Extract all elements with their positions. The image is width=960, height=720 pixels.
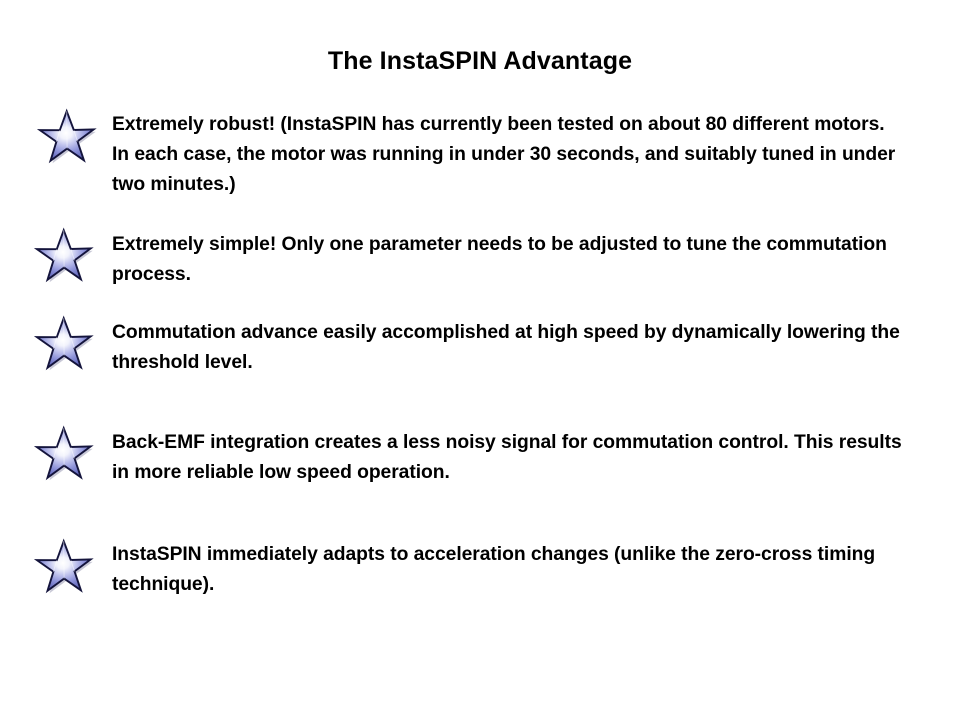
list-item-label: Back-EMF integration creates a less nois… bbox=[112, 428, 902, 488]
list-item-label: Extremely simple! Only one parameter nee… bbox=[112, 230, 902, 290]
star-icon bbox=[34, 106, 98, 170]
list-item-label: Commutation advance easily accomplished … bbox=[112, 318, 902, 378]
star-icon bbox=[31, 313, 95, 377]
star-icon bbox=[31, 225, 95, 289]
list-item-label: Extremely robust! (InstaSPIN has current… bbox=[112, 110, 902, 200]
star-icon bbox=[31, 536, 95, 600]
star-icon bbox=[31, 423, 95, 487]
bullet-list: Extremely robust! (InstaSPIN has current… bbox=[0, 0, 960, 720]
list-item-label: InstaSPIN immediately adapts to accelera… bbox=[112, 540, 902, 600]
slide-canvas: The InstaSPIN Advantage bbox=[0, 0, 960, 720]
